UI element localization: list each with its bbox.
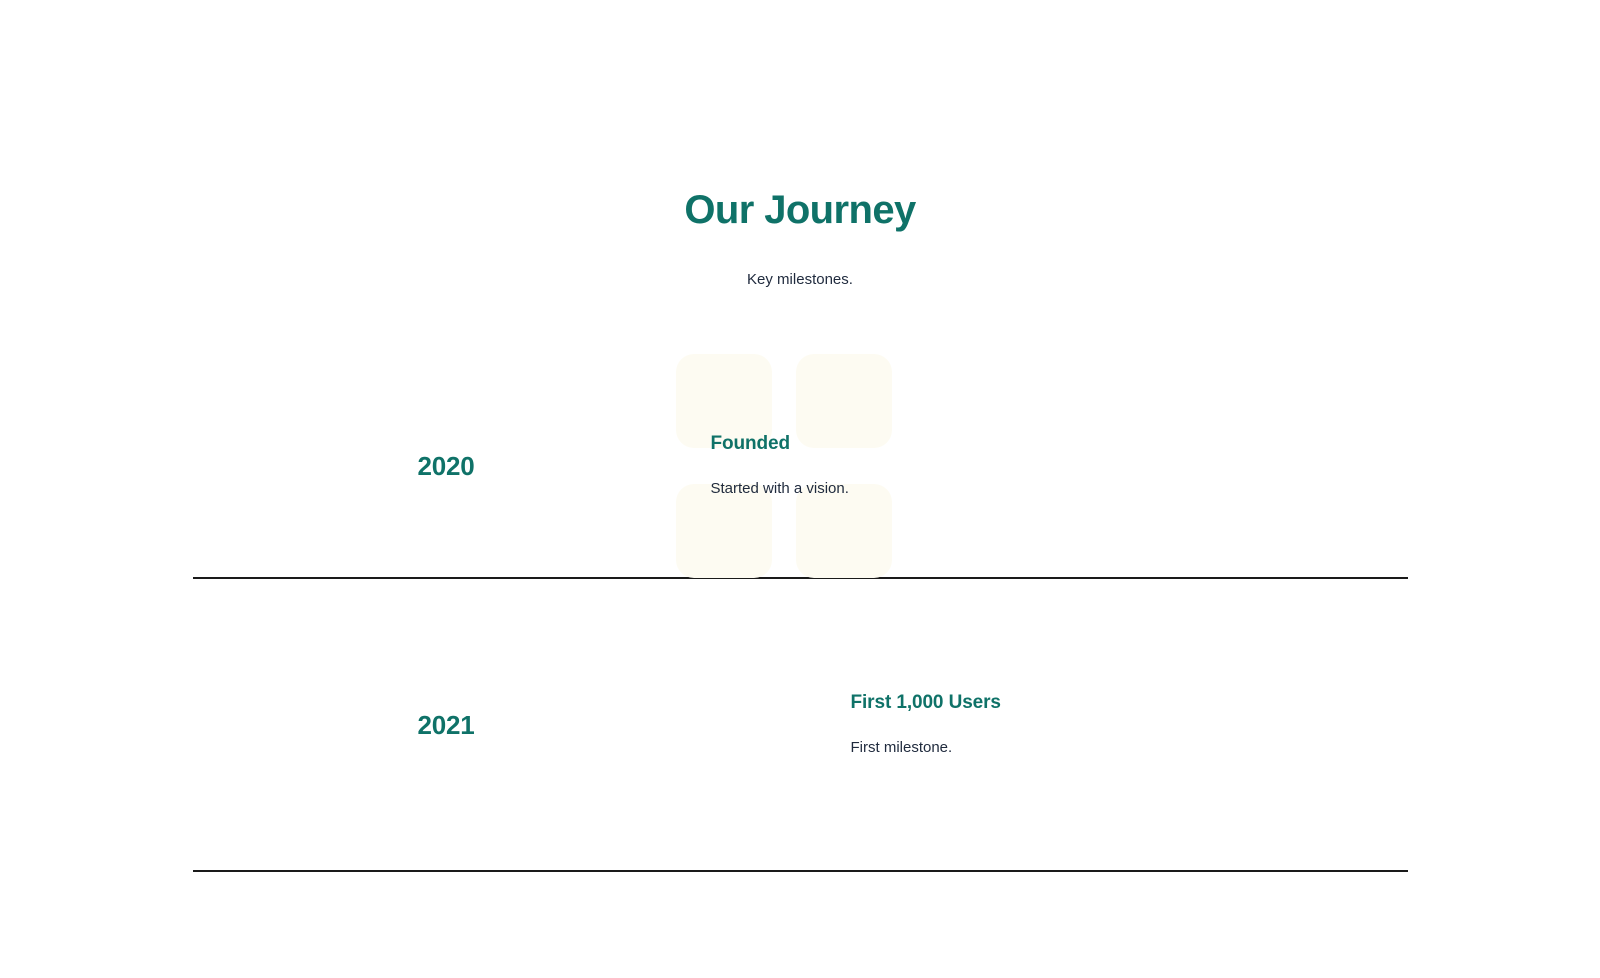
timeline-entry-heading: Founded [711,432,849,456]
timeline-entry-content: Founded Started with a vision. [711,432,849,499]
timeline-entry-body: First milestone. [851,715,1001,758]
timeline-entry-year: 2021 [417,710,482,740]
timeline-entry: 2020 Founded Started with a vision. [193,354,1408,579]
timeline-entry-body: Started with a vision. [711,456,849,499]
page-subtitle: Key milestones. [0,232,1600,290]
timeline-page: Our Journey Key milestones. 2020 Founded… [0,0,1600,978]
timeline-entry-heading: First 1,000 Users [851,691,1001,715]
timeline-entry-content: First 1,000 Users First milestone. [851,691,1001,758]
page-title: Our Journey [0,188,1600,232]
timeline-list: 2020 Founded Started with a vision. 2021… [193,290,1408,872]
timeline-entry: 2021 First 1,000 Users First milestone. [193,579,1408,872]
timeline-entry-year: 2020 [417,451,482,481]
page-header: Our Journey Key milestones. [0,0,1600,290]
